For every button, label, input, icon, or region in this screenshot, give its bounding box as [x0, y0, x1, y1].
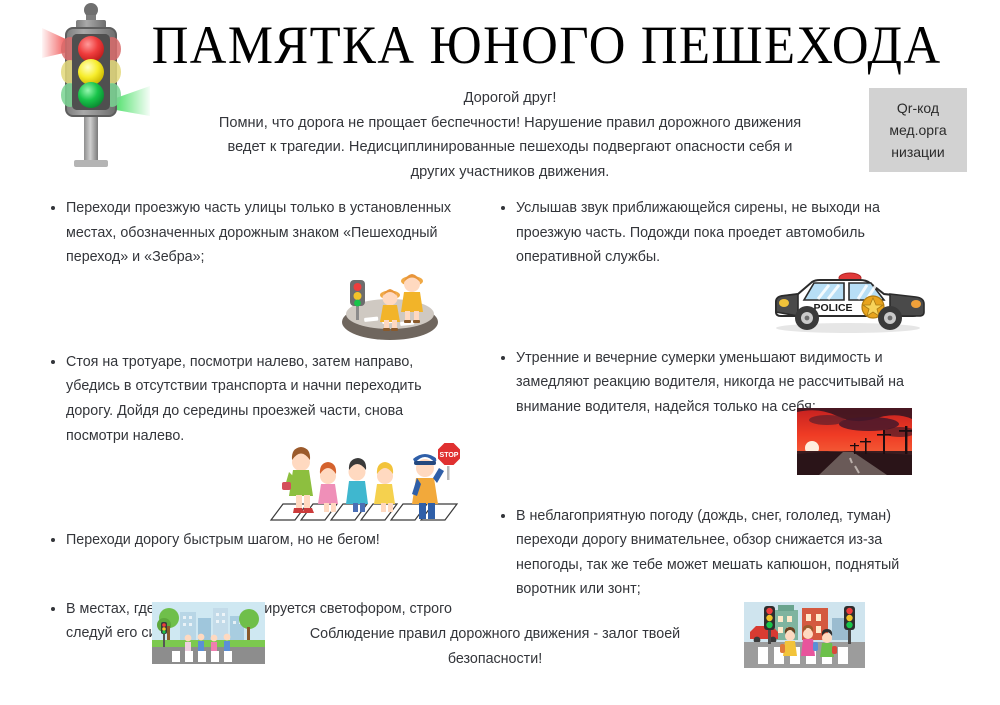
- footer-line-1: Соблюдение правил дорожного движения - з…: [285, 622, 705, 647]
- police-label: POLICE: [813, 302, 852, 314]
- list-item: Услышав звук приближающейся сирены, не в…: [498, 196, 928, 270]
- qr-code-placeholder[interactable]: Qr-код мед.орга низации: [869, 88, 967, 172]
- footer-slogan: Соблюдение правил дорожного движения - з…: [285, 622, 705, 672]
- list-item: В неблагоприятную погоду (дождь, снег, г…: [498, 504, 928, 602]
- qr-label-line-1: Qr-код: [897, 97, 939, 119]
- children-crosswalk-city-photo: [152, 602, 265, 664]
- right-column: Услышав звук приближающейся сирены, не в…: [498, 196, 928, 602]
- footer-line-2: безопасности!: [285, 647, 705, 672]
- intro-line-4: других участников движения.: [165, 160, 855, 185]
- left-column: Переходи проезжую часть улицы только в у…: [48, 196, 463, 646]
- girls-at-crosswalk-illustration: [48, 270, 463, 344]
- poster-header: ПАМЯТКА ЮНОГО ПЕШЕХОДА Дорогой друг! Пом…: [0, 0, 1000, 182]
- police-car-illustration: POLICE: [498, 270, 928, 338]
- children-crossing-with-guard-illustration: STOP: [48, 448, 463, 518]
- intro-line-1: Дорогой друг!: [165, 86, 855, 111]
- intro-line-3: ведет к трагедии. Недисциплинированные п…: [165, 135, 855, 160]
- qr-label-line-2: мед.орга: [889, 119, 946, 141]
- qr-label-line-3: низации: [891, 141, 944, 163]
- intro-line-2: Помни, что дорога не прощает беспечности…: [165, 111, 855, 136]
- traffic-light-icon: [28, 2, 168, 170]
- list-item: Переходи проезжую часть улицы только в у…: [48, 196, 463, 270]
- list-item: Переходи дорогу быстрым шагом, но не бег…: [48, 528, 463, 553]
- sunset-road-photo: [498, 420, 928, 492]
- intro-paragraph: Дорогой друг! Помни, что дорога не проща…: [165, 86, 855, 184]
- children-crosswalk-traffic-lights-photo: [744, 602, 865, 668]
- svg-text:STOP: STOP: [440, 452, 459, 459]
- page-title: ПАМЯТКА ЮНОГО ПЕШЕХОДА: [152, 14, 895, 76]
